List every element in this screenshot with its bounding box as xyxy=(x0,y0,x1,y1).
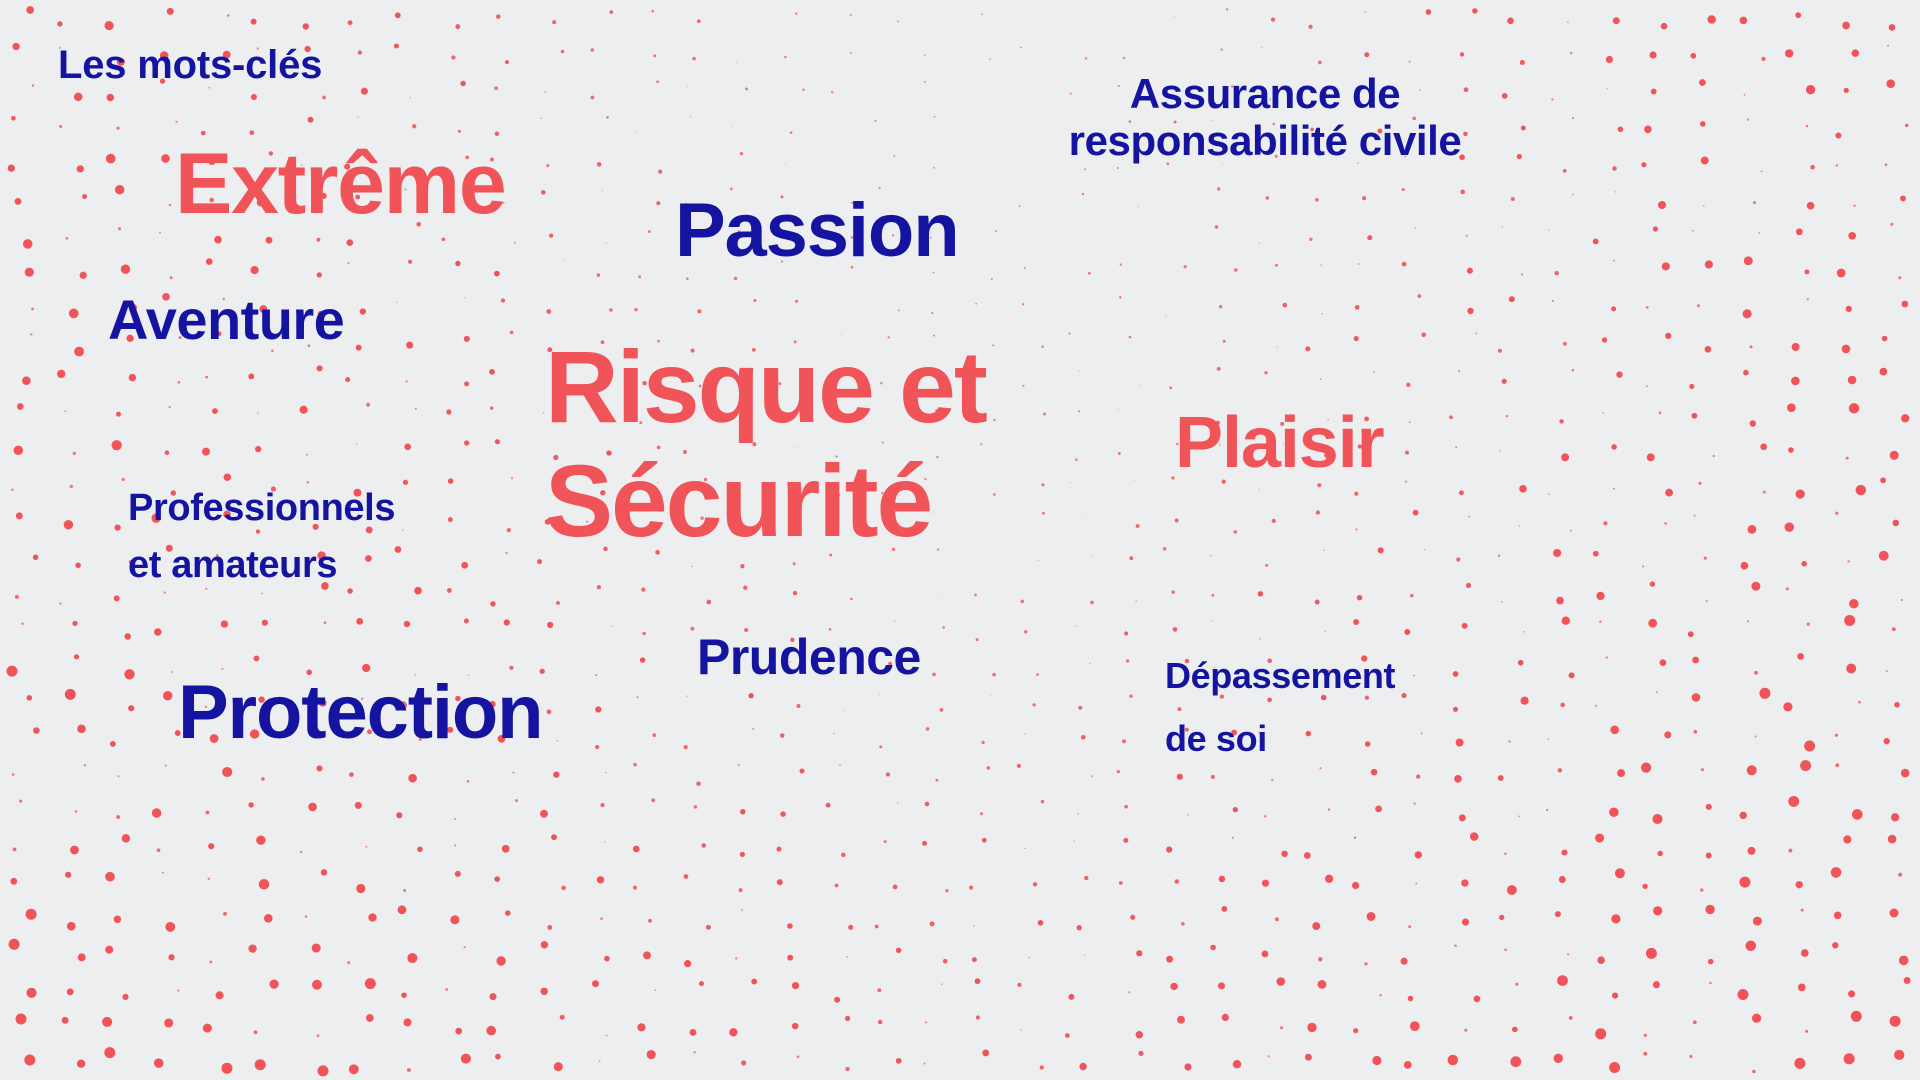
page-title: Les mots-clés xyxy=(58,44,322,87)
keyword-passion[interactable]: Passion xyxy=(675,190,958,272)
keyword-assurance-responsabilite-civile[interactable]: Assurance de responsabilité civile xyxy=(1055,70,1475,164)
keyword-prudence[interactable]: Prudence xyxy=(697,630,921,684)
keyword-professionnels-et-amateurs[interactable]: Professionnels et amateurs xyxy=(128,480,395,594)
keyword-aventure[interactable]: Aventure xyxy=(108,290,344,350)
keyword-protection[interactable]: Protection xyxy=(178,672,542,754)
keyword-risque-et-securite[interactable]: Risque et Sécurité xyxy=(545,330,986,558)
keyword-plaisir[interactable]: Plaisir xyxy=(1175,405,1384,483)
word-cloud-canvas: Les mots-clés Extrême Assurance de respo… xyxy=(0,0,1920,1080)
keyword-extreme[interactable]: Extrême xyxy=(175,138,505,231)
keyword-depassement-de-soi[interactable]: Dépassement de soi xyxy=(1165,644,1395,770)
